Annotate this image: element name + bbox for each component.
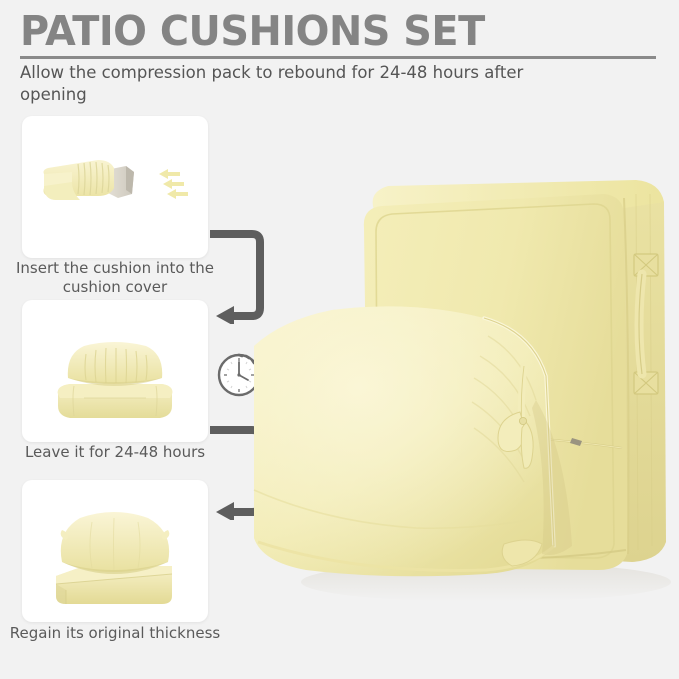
patio-cushion-set-photo (236, 150, 679, 620)
step-caption-2: Leave it for 24-48 hours (8, 443, 222, 462)
title-divider (20, 56, 656, 59)
page-subtitle: Allow the compression pack to rebound fo… (20, 62, 540, 106)
step-caption-1: Insert the cushion into the cushion cove… (8, 259, 222, 297)
step-card-1 (22, 116, 208, 258)
step-card-3 (22, 480, 208, 622)
step-caption-3: Regain its original thickness (8, 624, 222, 643)
lofted-cushion-stack-icon (22, 480, 208, 622)
compressed-cushion-stack-icon (22, 300, 208, 442)
step-card-2 (22, 300, 208, 442)
cushion-insert-into-cover-icon (22, 116, 208, 258)
page-title: PATIO CUSHIONS SET (20, 8, 485, 54)
infographic-page: PATIO CUSHIONS SET Allow the compression… (0, 0, 679, 679)
